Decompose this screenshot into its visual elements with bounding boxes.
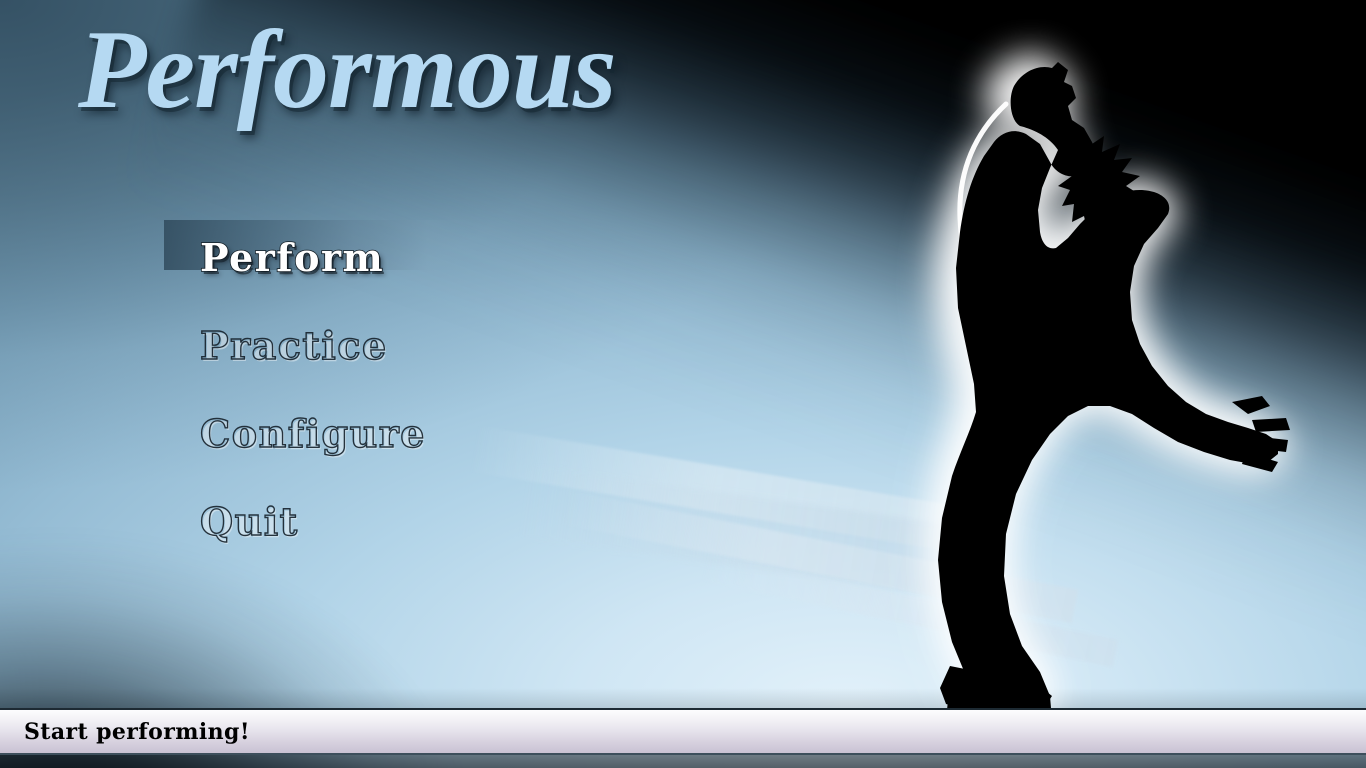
menu-item-label: Quit bbox=[200, 503, 299, 541]
menu-item-label: Perform bbox=[200, 239, 384, 277]
dancer-figure bbox=[800, 40, 1320, 720]
dancer-silhouette-artwork bbox=[800, 40, 1320, 720]
main-menu: Perform Practice Configure Quit bbox=[0, 214, 700, 566]
status-bar-text: Start performing! bbox=[24, 719, 250, 745]
app-logo: Performous bbox=[78, 6, 616, 135]
menu-item-perform[interactable]: Perform bbox=[0, 214, 700, 302]
status-bar: Start performing! bbox=[0, 708, 1366, 755]
menu-item-practice[interactable]: Practice bbox=[0, 302, 700, 390]
menu-item-configure[interactable]: Configure bbox=[0, 390, 700, 478]
menu-item-label: Practice bbox=[200, 327, 388, 365]
menu-item-label: Configure bbox=[200, 415, 426, 453]
menu-item-quit[interactable]: Quit bbox=[0, 478, 700, 566]
performous-main-menu-screen: Performous Perform Practice Configure Qu… bbox=[0, 0, 1366, 768]
